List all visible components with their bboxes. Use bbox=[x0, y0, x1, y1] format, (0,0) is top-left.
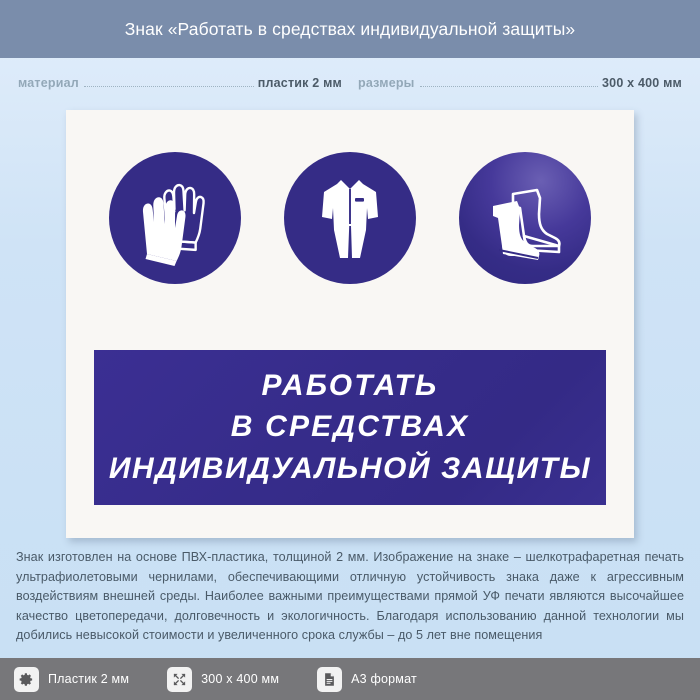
protective-boots-icon bbox=[459, 152, 591, 284]
banner-line-2: В СРЕДСТВАХ bbox=[231, 409, 470, 446]
resize-arrows-icon bbox=[167, 667, 192, 692]
protective-gloves-icon bbox=[109, 152, 241, 284]
spec-dot-leader bbox=[420, 86, 598, 87]
specification-row: материал пластик 2 мм размеры 300 x 400 … bbox=[0, 58, 700, 108]
sign-preview-card: РАБОТАТЬ В СРЕДСТВАХ ИНДИВИДУАЛЬНОЙ ЗАЩИ… bbox=[66, 110, 634, 538]
gear-icon bbox=[14, 667, 39, 692]
page-root: Знак «Работать в средствах индивидуально… bbox=[0, 0, 700, 700]
footer-label-format: A3 формат bbox=[351, 672, 439, 686]
footer-item-format[interactable]: A3 формат bbox=[317, 667, 439, 692]
sign-text-banner: РАБОТАТЬ В СРЕДСТВАХ ИНДИВИДУАЛЬНОЙ ЗАЩИ… bbox=[94, 350, 606, 505]
spec-dimensions: размеры 300 x 400 мм bbox=[358, 77, 682, 90]
page-header: Знак «Работать в средствах индивидуально… bbox=[0, 0, 700, 58]
banner-line-1: РАБОТАТЬ bbox=[262, 368, 439, 405]
spec-dot-leader bbox=[84, 86, 254, 87]
footer-label-material: Пластик 2 мм bbox=[48, 672, 151, 686]
banner-line-3: ИНДИВИДУАЛЬНОЙ ЗАЩИТЫ bbox=[109, 451, 591, 488]
spec-material-value: пластик 2 мм bbox=[258, 77, 342, 90]
footer-item-dimensions[interactable]: 300 x 400 мм bbox=[167, 667, 301, 692]
spec-dimensions-label: размеры bbox=[358, 77, 415, 90]
spec-dimensions-value: 300 x 400 мм bbox=[602, 77, 682, 90]
footer-item-material[interactable]: Пластик 2 мм bbox=[14, 667, 151, 692]
spec-material-label: материал bbox=[18, 77, 79, 90]
document-icon bbox=[317, 667, 342, 692]
protective-coveralls-icon bbox=[284, 152, 416, 284]
spec-material: материал пластик 2 мм bbox=[18, 77, 342, 90]
pictogram-row bbox=[66, 138, 634, 298]
page-footer: Пластик 2 мм 300 x 400 мм bbox=[0, 658, 700, 700]
footer-label-dimensions: 300 x 400 мм bbox=[201, 672, 301, 686]
page-title: Знак «Работать в средствах индивидуально… bbox=[125, 19, 576, 40]
product-description: Знак изготовлен на основе ПВХ-пластика, … bbox=[16, 548, 684, 646]
